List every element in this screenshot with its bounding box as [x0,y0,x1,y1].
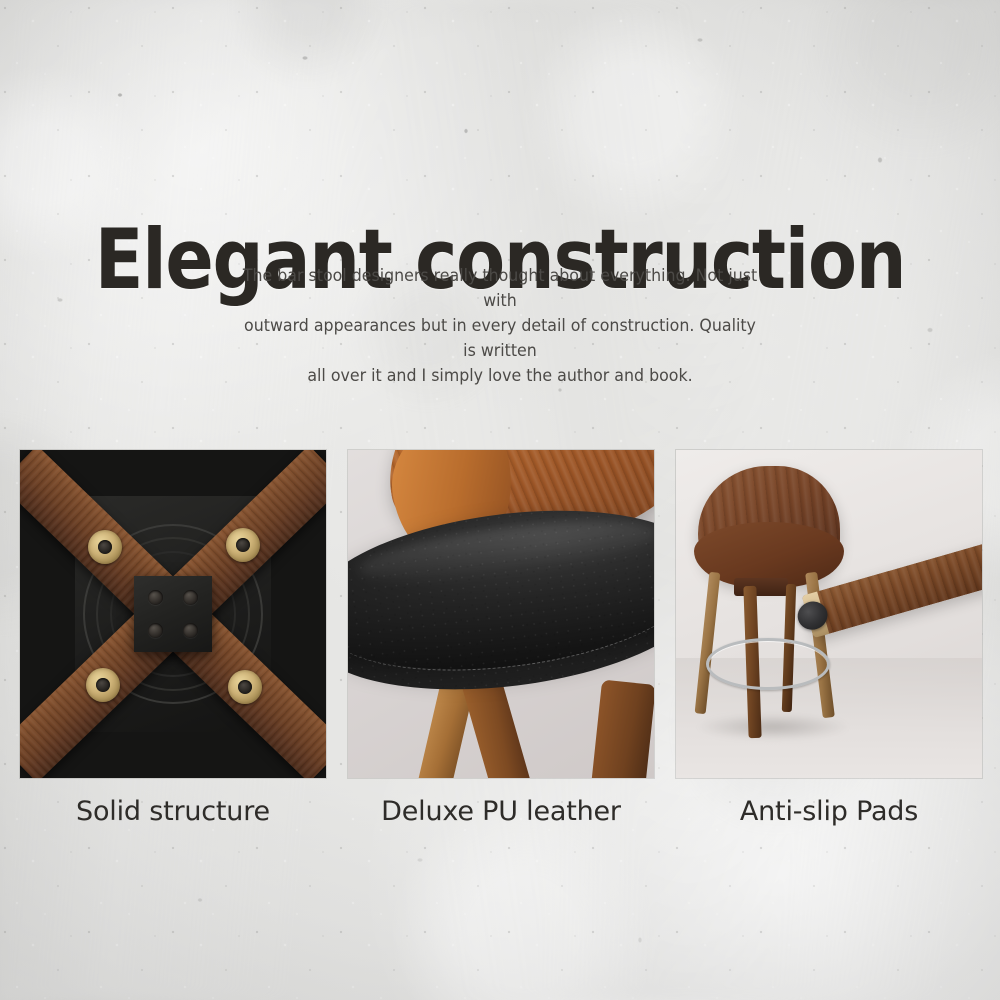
brass-fitting-top-right [226,528,260,562]
center-mounting-plate [134,576,212,652]
stool-seat-base [734,578,788,596]
stool-floor-shadow [698,714,848,740]
brass-fitting-bottom-right [228,670,262,704]
brass-fitting-top-left [88,530,122,564]
caption-anti-slip-pads: Anti-slip Pads [676,796,982,842]
feature-image-deluxe-pu-leather [348,450,654,778]
caption-solid-structure: Solid structure [20,796,326,842]
bolt-head-3 [148,623,163,638]
stool-leg-far [590,679,654,778]
caption-deluxe-pu-leather: Deluxe PU leather [348,796,654,842]
chrome-footrest-ring [706,638,830,690]
feature-image-anti-slip-pads [676,450,982,778]
brass-fitting-bottom-left [86,668,120,702]
bolt-head-4 [183,623,198,638]
hero-description: The bar stool designers really thought a… [220,264,780,389]
bolt-head-2 [183,590,198,605]
hero-description-line-3: all over it and I simply love the author… [240,364,761,389]
hero-description-line-2: outward appearances but in every detail … [240,314,761,364]
feature-image-solid-structure [20,450,326,778]
hero-description-line-1: The bar stool designers really thought a… [240,264,761,314]
bolt-head-1 [148,590,163,605]
feature-caption-row: Solid structure Deluxe PU leather Anti-s… [20,796,982,842]
product-feature-banner: Elegant construction The bar stool desig… [0,0,1000,1000]
feature-image-row [20,450,982,778]
